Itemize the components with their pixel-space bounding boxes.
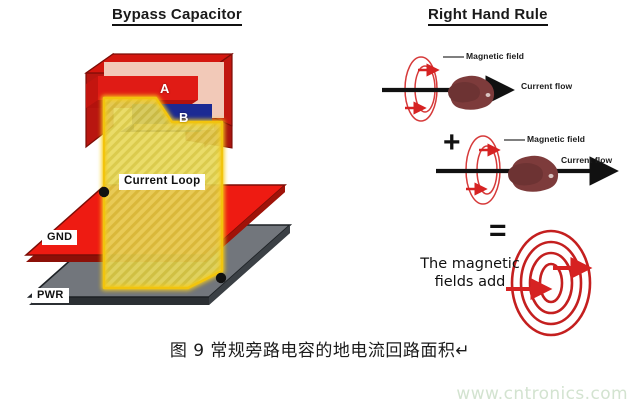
capacitor-layer-label-a: A <box>160 81 169 96</box>
current-loop-region <box>104 98 222 288</box>
site-watermark: www.cntronics.com <box>456 384 628 404</box>
capacitor-body <box>86 54 232 148</box>
current-flow-label-2: Current flow <box>561 155 612 165</box>
magnetic-field-label-2: Magnetic field <box>527 134 585 144</box>
result-caption-line2: fields add <box>404 274 536 292</box>
ground-plane <box>26 185 285 262</box>
right-hand-fist <box>448 76 494 110</box>
via-dot-ground <box>99 187 109 197</box>
figure-caption: 图 9 常规旁路电容的地电流回路面积↵ <box>0 336 640 361</box>
magnetic-field-label-1: Magnetic field <box>466 51 524 61</box>
rhr-step-1 <box>382 57 509 121</box>
current-flow-label-1: Current flow <box>521 81 572 91</box>
magnetic-field-loop-inner-2 <box>477 146 497 194</box>
rhr-step-2 <box>436 136 613 204</box>
current-loop-label: Current Loop <box>119 174 205 190</box>
capacitor-layer-label-b: B <box>179 110 188 125</box>
result-caption: The magnetic fields add <box>404 256 536 291</box>
result-caption-line1: The magnetic <box>404 256 536 274</box>
operator-equals: = <box>489 216 507 246</box>
magnetic-field-loop-outer <box>405 57 437 121</box>
panel-title-right-hand-rule: Right Hand Rule <box>428 6 548 26</box>
right-hand-fist-2 <box>508 156 558 192</box>
magnetic-field-loop-outer-2 <box>466 136 500 204</box>
ground-plane-label: GND <box>42 230 77 245</box>
via-dot-power <box>216 273 226 283</box>
magnetic-field-loop-inner <box>415 66 435 112</box>
power-plane-label: PWR <box>32 288 69 303</box>
operator-plus: + <box>443 128 461 158</box>
diagram-canvas: Bypass Capacitor Right Hand Rule <box>0 0 640 414</box>
panel-title-bypass-capacitor: Bypass Capacitor <box>112 6 242 26</box>
